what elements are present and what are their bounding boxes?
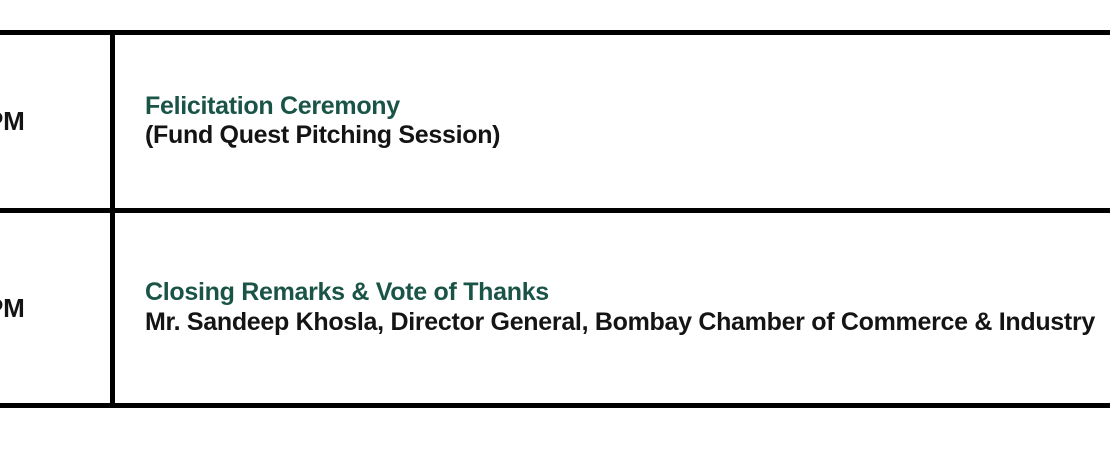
- agenda-time-label: PM: [0, 106, 25, 137]
- agenda-session-cell: Felicitation Ceremony (Fund Quest Pitchi…: [115, 92, 1110, 152]
- agenda-time-label: PM: [0, 293, 25, 324]
- agenda-session-cell: Closing Remarks & Vote of Thanks Mr. San…: [115, 278, 1110, 338]
- agenda-time-cell: PM: [0, 35, 115, 208]
- session-title: Felicitation Ceremony: [145, 92, 1110, 121]
- session-title: Closing Remarks & Vote of Thanks: [145, 278, 1110, 307]
- agenda-time-cell: PM: [0, 213, 115, 403]
- agenda-table: PM Felicitation Ceremony (Fund Quest Pit…: [0, 30, 1110, 408]
- session-subtitle: Mr. Sandeep Khosla, Director General, Bo…: [145, 307, 1110, 338]
- table-row: PM Closing Remarks & Vote of Thanks Mr. …: [0, 213, 1110, 403]
- session-subtitle: (Fund Quest Pitching Session): [145, 120, 1110, 151]
- table-row: PM Felicitation Ceremony (Fund Quest Pit…: [0, 35, 1110, 213]
